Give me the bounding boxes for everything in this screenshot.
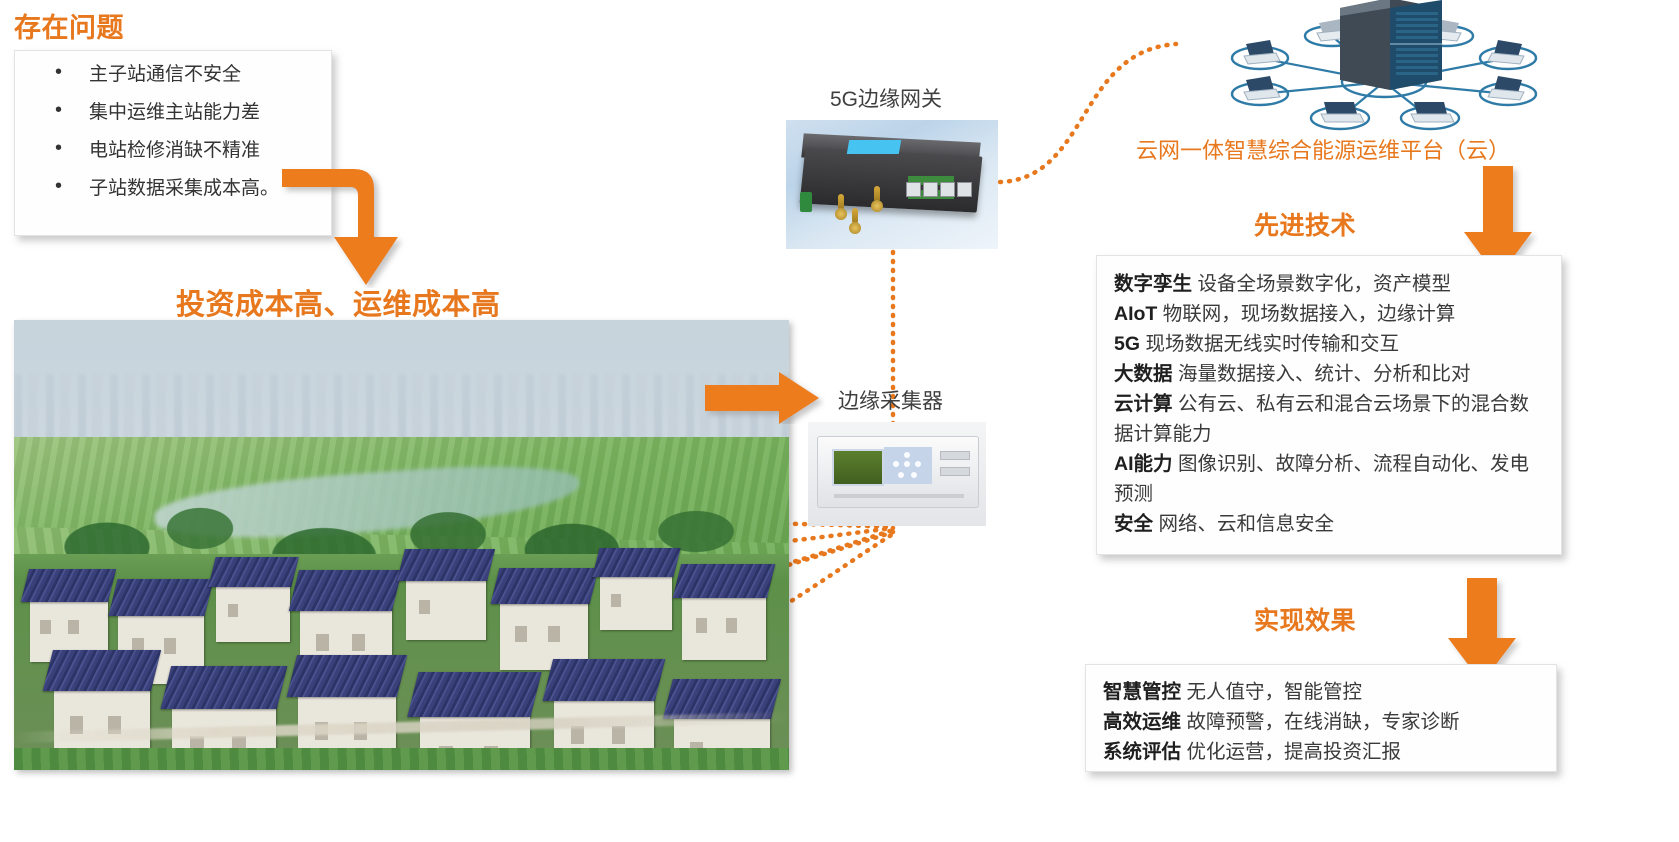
effect-desc: 故障预警，在线消缺，专家诊断 (1186, 711, 1459, 733)
list-item: 主子站通信不安全 (55, 65, 321, 84)
tech-line: 5G 现场数据无线实时传输和交互 (1114, 329, 1547, 359)
effects-title: 实现效果 (1254, 601, 1356, 637)
effect-term: 高效运维 (1103, 711, 1181, 733)
effects-card: 智慧管控 无人值守，智能管控 高效运维 故障预警，在线消缺，专家诊断 系统评估 … (1085, 664, 1557, 772)
tech-term: 5G (1114, 333, 1140, 355)
cloud-platform-label: 云网一体智慧综合能源运维平台（云） (1136, 133, 1510, 165)
list-item: 电站检修消缺不精准 (55, 141, 321, 160)
tech-term: AIoT (1114, 303, 1157, 325)
tech-line: AIoT 物联网，现场数据接入，边缘计算 (1114, 299, 1547, 329)
slide-canvas: 存在问题 主子站通信不安全 集中运维主站能力差 电站检修消缺不精准 子站数据采集… (0, 0, 1679, 842)
tech-line: 大数据 海量数据接入、统计、分析和比对 (1114, 359, 1547, 389)
effect-line: 智慧管控 无人值守，智能管控 (1103, 677, 1542, 707)
gateway-label: 5G边缘网关 (830, 83, 942, 113)
tech-line: 数字孪生 设备全场景数字化，资产模型 (1114, 269, 1547, 299)
tech-title: 先进技术 (1254, 206, 1356, 242)
problems-title: 存在问题 (14, 6, 124, 45)
aerial-solar-village-photo (14, 320, 789, 770)
bent-down-arrow-icon (282, 163, 412, 288)
tech-term: 安全 (1114, 513, 1153, 535)
right-arrow-icon (705, 372, 825, 424)
tech-term: 云计算 (1114, 393, 1173, 415)
tech-desc: 现场数据无线实时传输和交互 (1145, 333, 1399, 355)
collector-device-image (808, 422, 986, 526)
tech-line: AI能力 图像识别、故障分析、流程自动化、发电预测 (1114, 449, 1547, 509)
effect-desc: 无人值守，智能管控 (1186, 681, 1362, 703)
effect-term: 智慧管控 (1103, 681, 1181, 703)
tech-desc: 海量数据接入、统计、分析和比对 (1178, 363, 1471, 385)
tech-desc: 公有云、私有云和混合云场景下的混合数据计算能力 (1114, 393, 1529, 445)
collector-label: 边缘采集器 (838, 385, 943, 415)
tech-desc: 物联网，现场数据接入，边缘计算 (1163, 303, 1456, 325)
tech-desc: 网络、云和信息安全 (1158, 513, 1334, 535)
tech-desc: 图像识别、故障分析、流程自动化、发电预测 (1114, 453, 1529, 505)
cost-headline: 投资成本高、运维成本高 (176, 281, 501, 323)
tech-card: 数字孪生 设备全场景数字化，资产模型 AIoT 物联网，现场数据接入，边缘计算 … (1096, 255, 1562, 555)
tech-line: 安全 网络、云和信息安全 (1114, 509, 1547, 539)
effect-desc: 优化运营，提高投资汇报 (1186, 741, 1401, 763)
tech-term: AI能力 (1114, 453, 1173, 475)
effect-line: 系统评估 优化运营，提高投资汇报 (1103, 737, 1542, 767)
effect-term: 系统评估 (1103, 741, 1181, 763)
gateway-device-image (786, 120, 998, 249)
tech-line: 云计算 公有云、私有云和混合云场景下的混合数据计算能力 (1114, 389, 1547, 449)
server-network-topology-image (1168, 0, 1600, 134)
problems-list: 主子站通信不安全 集中运维主站能力差 电站检修消缺不精准 子站数据采集成本高。 (25, 65, 321, 198)
list-item: 集中运维主站能力差 (55, 103, 321, 122)
effect-line: 高效运维 故障预警，在线消缺，专家诊断 (1103, 707, 1542, 737)
tech-desc: 设备全场景数字化，资产模型 (1197, 273, 1451, 295)
tech-term: 大数据 (1114, 363, 1173, 385)
tech-term: 数字孪生 (1114, 273, 1192, 295)
solar-rooftop-village (14, 554, 789, 770)
